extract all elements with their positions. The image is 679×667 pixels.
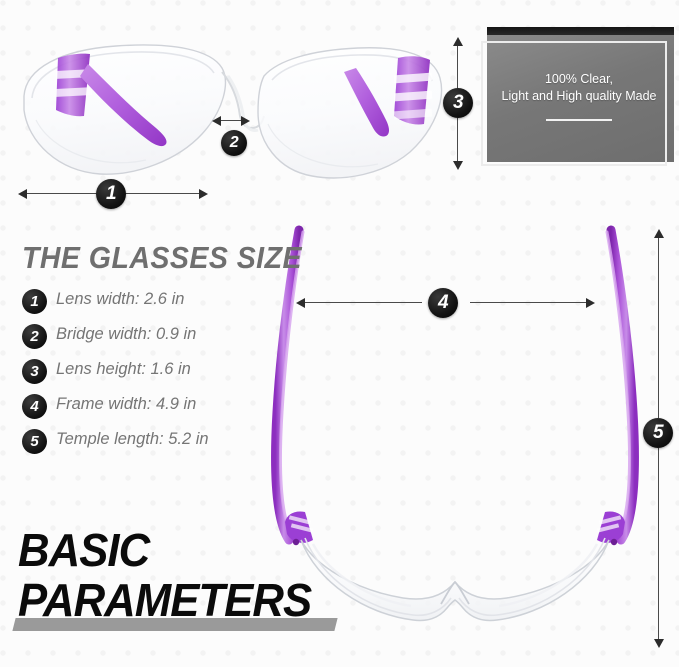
spec-number-2: 2 — [22, 324, 47, 349]
spec-label-3: Lens height: 1.6 in — [56, 360, 191, 379]
spec-number-4: 4 — [22, 394, 47, 419]
marker-4: 4 — [428, 288, 458, 318]
infographic-canvas: 1 2 3 100% Clear, Light and High quality… — [0, 0, 679, 667]
basic-parameters-line1: BASIC — [18, 525, 311, 575]
right-temple-accent — [394, 56, 432, 124]
glasses-size-heading: THE GLASSES SIZE — [22, 240, 302, 276]
basic-parameters-line2: PARAMETERS — [18, 575, 311, 625]
glasses-side-view-image — [6, 24, 456, 184]
front-lens-topdown — [301, 538, 609, 621]
basic-parameters-heading: BASIC PARAMETERS — [18, 525, 327, 625]
spec-number-1: 1 — [22, 289, 47, 314]
marker-3: 3 — [443, 88, 473, 118]
panel-text-line2: Light and High quality Made — [489, 88, 669, 105]
spec-label-4: Frame width: 4.9 in — [56, 395, 196, 414]
marker-5: 5 — [643, 418, 673, 448]
spec-label-2: Bridge width: 0.9 in — [56, 325, 196, 344]
marker-2: 2 — [221, 130, 247, 156]
panel-divider-rule — [546, 119, 612, 121]
panel-text-line1: 100% Clear, — [489, 71, 669, 88]
panel-text: 100% Clear, Light and High quality Made — [489, 71, 669, 105]
spec-label-5: Temple length: 5.2 in — [56, 430, 209, 449]
spec-label-1: Lens width: 2.6 in — [56, 290, 184, 309]
marker-1: 1 — [96, 179, 126, 209]
spec-number-5: 5 — [22, 429, 47, 454]
quality-info-panel: 100% Clear, Light and High quality Made — [481, 27, 674, 168]
spec-number-3: 3 — [22, 359, 47, 384]
